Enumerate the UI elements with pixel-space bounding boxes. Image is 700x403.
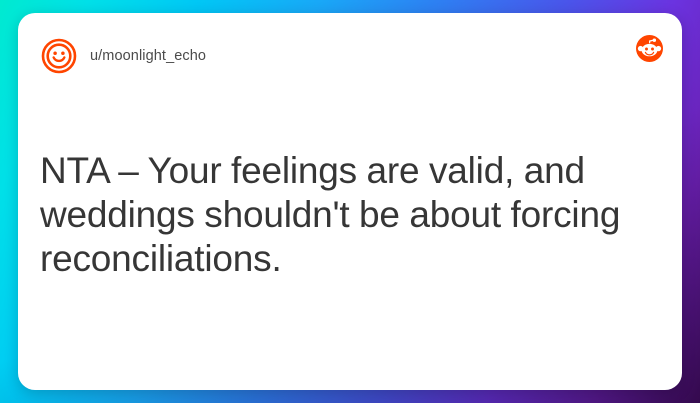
comment-header: u/moonlight_echo [18, 13, 682, 103]
username-label: u/moonlight_echo [90, 37, 206, 75]
reddit-snoo-icon[interactable] [636, 35, 663, 62]
reddit-comment-card: u/moonlight_echo [18, 13, 682, 390]
screenshot-root: u/moonlight_echo [0, 0, 700, 403]
avatar[interactable] [40, 37, 78, 75]
comment-text: NTA – Your feelings are valid, and weddi… [40, 149, 656, 281]
